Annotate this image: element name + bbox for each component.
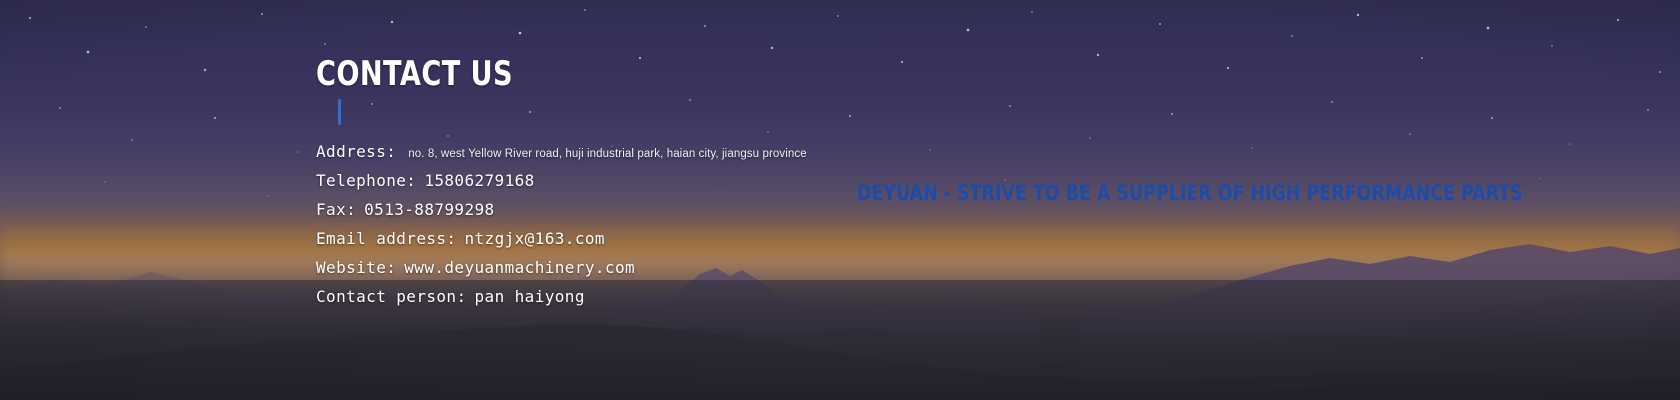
contact-details-list: Address: no. 8, west Yellow River road, … <box>316 142 807 316</box>
contact-row-address: Address: no. 8, west Yellow River road, … <box>316 142 807 171</box>
contact-row-email: Email address: ntzgjx@163.com <box>316 229 807 258</box>
website-value[interactable]: www.deyuanmachinery.com <box>404 258 635 277</box>
fax-label: Fax: <box>316 200 356 219</box>
address-value: no. 8, west Yellow River road, huji indu… <box>408 148 806 160</box>
telephone-label: Telephone: <box>316 171 416 190</box>
contact-row-fax: Fax: 0513-88799298 <box>316 200 807 229</box>
contact-row-website: Website: www.deyuanmachinery.com <box>316 258 807 287</box>
contact-row-contact-person: Contact person: pan haiyong <box>316 287 807 316</box>
fax-value: 0513-88799298 <box>364 200 494 219</box>
email-value[interactable]: ntzgjx@163.com <box>464 229 604 248</box>
telephone-value[interactable]: 15806279168 <box>424 171 534 190</box>
email-label: Email address: <box>316 229 456 248</box>
address-label: Address: <box>316 142 396 161</box>
company-slogan: DEYUAN - STRIVE TO BE A SUPPLIER OF HIGH… <box>857 183 1523 204</box>
website-label: Website: <box>316 258 396 277</box>
contact-row-telephone: Telephone: 15806279168 <box>316 171 807 200</box>
page-title: CONTACT US <box>316 57 513 91</box>
contact-person-label: Contact person: <box>316 287 467 306</box>
contact-banner: CONTACT US Address: no. 8, west Yellow R… <box>0 0 1680 400</box>
contact-person-value: pan haiyong <box>475 287 585 306</box>
title-accent-bar <box>338 99 341 125</box>
banner-content: CONTACT US Address: no. 8, west Yellow R… <box>0 0 1680 400</box>
